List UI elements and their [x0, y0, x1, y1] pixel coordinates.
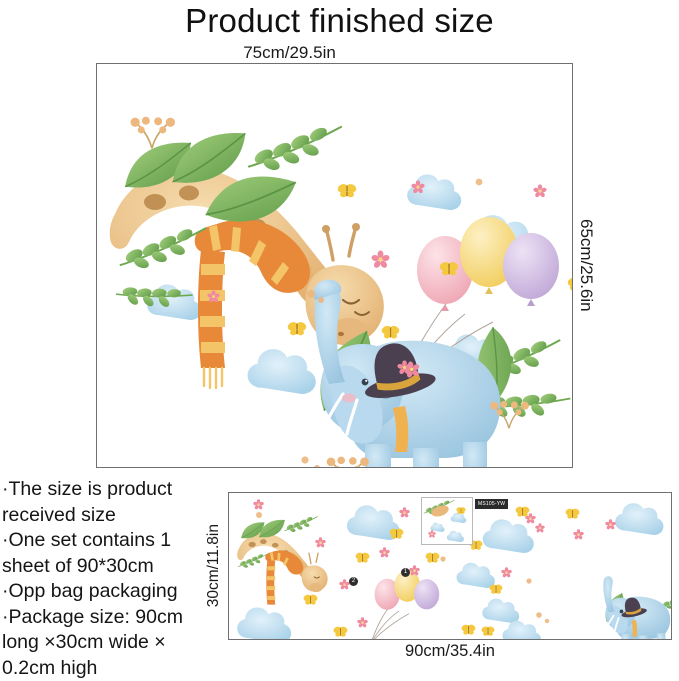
product-code-label: MS105-YW — [475, 499, 508, 509]
sheet-height-dimension-value: 30cm/11.8in — [205, 524, 223, 607]
butterfly-icon — [481, 625, 496, 636]
flower-icon — [535, 523, 545, 533]
note-line-4: ·Package size: 90cm long ×30cm wide × 0.… — [2, 605, 214, 681]
cloud-icon — [447, 531, 464, 542]
flower-icon — [315, 537, 326, 548]
flower-icon — [605, 519, 616, 530]
flower-icon — [253, 499, 264, 510]
main-artwork — [97, 64, 572, 467]
note-line-2: ·One set contains 1 sheet of 90*30cm — [2, 528, 214, 579]
flower-icon — [501, 567, 512, 578]
elephant-illustration — [598, 576, 672, 640]
note-line-3: ·Opp bag packaging — [2, 579, 214, 605]
sheet-preview-panel: MS105-YW 1 2 — [228, 492, 672, 640]
sheet-width-dimension-label: 90cm/35.4in — [228, 642, 672, 661]
main-height-dimension-value: 65cm/25.6in — [576, 219, 596, 312]
butterfly-icon — [286, 321, 307, 336]
cloud-icon — [237, 607, 291, 640]
berry-cluster-icon — [327, 457, 369, 468]
balloon-purple — [503, 233, 559, 299]
giraffe-illustration — [237, 516, 327, 605]
sheet-width-dimension-value: 90cm/35.4in — [405, 642, 495, 660]
berry-cluster-icon — [131, 117, 175, 149]
butterfly-icon — [567, 277, 573, 292]
scarf — [265, 550, 303, 604]
leaf-icon — [173, 133, 246, 183]
cloud-icon — [248, 349, 316, 394]
main-width-dimension-value: 75cm/29.5in — [243, 43, 336, 63]
reference-photo-inset — [421, 497, 473, 545]
main-height-dimension-label: 65cm/25.6in — [576, 63, 606, 468]
sheet-marker-2: 2 — [349, 577, 358, 586]
main-preview-panel — [96, 63, 573, 468]
butterfly-icon — [303, 594, 319, 606]
butterfly-icon — [425, 552, 441, 564]
cloud-icon — [615, 503, 663, 535]
cloud-icon — [457, 563, 495, 588]
butterfly-icon — [461, 624, 477, 636]
flower-icon — [379, 547, 390, 558]
note-line-1: ·The size is product received size — [2, 477, 214, 528]
main-width-dimension-label: 75cm/29.5in — [0, 43, 679, 63]
flower-icon — [573, 529, 584, 540]
reference-photo-artwork — [422, 498, 472, 544]
flower-icon — [357, 617, 368, 628]
cloud-icon — [483, 519, 534, 553]
butterfly-icon — [333, 626, 349, 638]
butterfly-icon — [381, 325, 401, 340]
butterfly-icon — [565, 508, 581, 520]
cloud-icon — [482, 599, 519, 623]
sheet-height-dimension-label: 30cm/11.8in — [202, 492, 226, 640]
leaf-sprig-icon — [248, 125, 342, 172]
cloud-icon — [503, 621, 541, 640]
product-notes: ·The size is product received size ·One … — [2, 477, 214, 681]
page-title: Product finished size — [0, 2, 679, 40]
flower-icon — [371, 250, 390, 269]
product-size-infographic: Product finished size 75cm/29.5in — [0, 0, 679, 677]
butterfly-icon — [336, 183, 357, 198]
sheet-preview-wrapper: 30cm/11.8in — [228, 492, 672, 640]
cloud-icon — [451, 513, 467, 523]
flower-icon — [399, 507, 410, 518]
sheet-marker-1: 1 — [401, 568, 410, 577]
flower-icon — [428, 530, 436, 538]
flower-icon — [533, 184, 547, 198]
leaf-sprig-icon — [284, 516, 317, 533]
balloon-purple — [414, 579, 439, 609]
butterfly-icon — [355, 552, 371, 564]
balloons-group — [371, 570, 439, 640]
butterfly-icon — [515, 506, 531, 518]
